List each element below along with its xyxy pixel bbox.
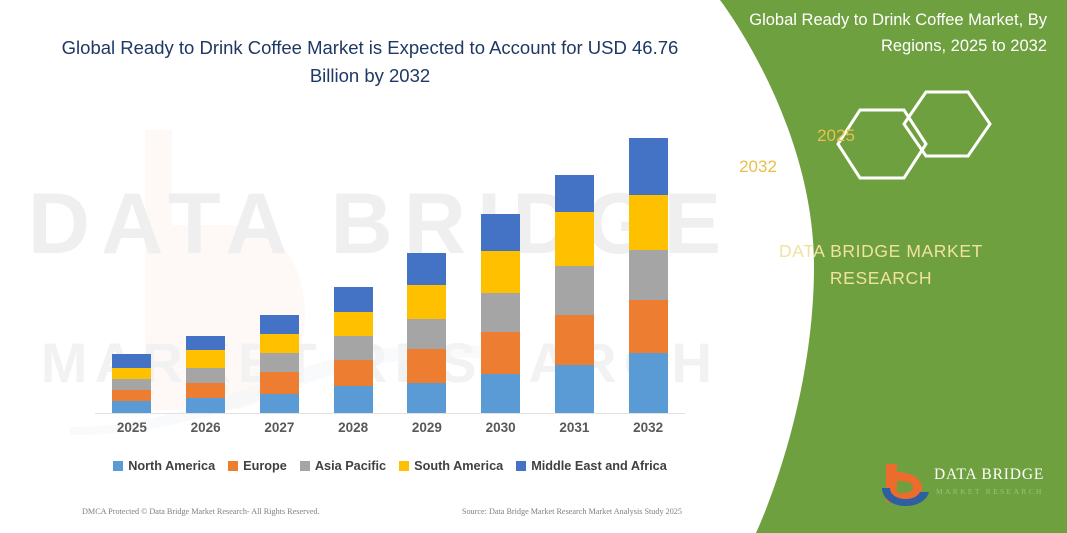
x-tick-2027: 2027	[243, 420, 317, 442]
stacked-bar-2029[interactable]	[407, 253, 446, 413]
x-axis-baseline	[95, 413, 685, 414]
x-tick-2029: 2029	[390, 420, 464, 442]
footer-source: Source: Data Bridge Market Research Mark…	[462, 507, 682, 516]
bar-segment-2029-south-america[interactable]	[407, 285, 446, 319]
legend-label-middle-east-and-africa: Middle East and Africa	[531, 459, 667, 473]
bars-container	[95, 120, 685, 413]
panel-title: Global Ready to Drink Coffee Market, By …	[732, 8, 1047, 59]
hexagon-2025-label: 2025	[806, 126, 866, 146]
x-tick-2030: 2030	[464, 420, 538, 442]
brand-name: DATA BRIDGE MARKET RESEARCH	[726, 238, 1036, 292]
stacked-bar-2030[interactable]	[481, 214, 520, 413]
bar-slot-2030	[464, 120, 538, 413]
legend-swatch-middle-east-and-africa	[516, 461, 526, 471]
footer: DMCA Protected © Data Bridge Market Rese…	[82, 507, 682, 516]
x-tick-2026: 2026	[169, 420, 243, 442]
green-panel: Global Ready to Drink Coffee Market, By …	[686, 0, 1067, 533]
legend-item-north-america[interactable]: North America	[113, 459, 215, 473]
legend-label-north-america: North America	[128, 459, 215, 473]
bar-segment-2027-middle-east-and-africa[interactable]	[260, 315, 299, 334]
stacked-bar-2026[interactable]	[186, 336, 225, 413]
x-tick-2032: 2032	[611, 420, 685, 442]
bar-slot-2025	[95, 120, 169, 413]
stacked-bar-2028[interactable]	[334, 287, 373, 413]
bar-slot-2028	[316, 120, 390, 413]
logo-subtitle: MARKET RESEARCH	[936, 487, 1044, 496]
bar-slot-2032	[611, 120, 685, 413]
legend-label-south-america: South America	[414, 459, 503, 473]
bar-segment-2032-europe[interactable]	[629, 300, 668, 353]
stacked-bar-2031[interactable]	[555, 175, 594, 413]
bar-segment-2031-europe[interactable]	[555, 315, 594, 365]
bar-segment-2030-south-america[interactable]	[481, 251, 520, 293]
bar-segment-2030-europe[interactable]	[481, 332, 520, 374]
data-bridge-logo: DATA BRIDGE MARKET RESEARCH	[880, 460, 1060, 508]
legend-item-middle-east-and-africa[interactable]: Middle East and Africa	[516, 459, 667, 473]
bar-segment-2027-europe[interactable]	[260, 372, 299, 394]
legend-label-asia-pacific: Asia Pacific	[315, 459, 386, 473]
bar-segment-2031-north-america[interactable]	[555, 365, 594, 413]
bar-segment-2025-asia-pacific[interactable]	[112, 379, 151, 390]
bar-segment-2027-asia-pacific[interactable]	[260, 353, 299, 372]
bar-segment-2029-north-america[interactable]	[407, 383, 446, 413]
bar-segment-2025-europe[interactable]	[112, 390, 151, 401]
page-title: Global Ready to Drink Coffee Market is E…	[60, 34, 680, 90]
bar-segment-2028-middle-east-and-africa[interactable]	[334, 287, 373, 312]
bar-segment-2026-north-america[interactable]	[186, 398, 225, 413]
bar-segment-2028-south-america[interactable]	[334, 312, 373, 336]
bar-segment-2026-middle-east-and-africa[interactable]	[186, 336, 225, 350]
bar-segment-2025-middle-east-and-africa[interactable]	[112, 354, 151, 368]
bar-slot-2027	[243, 120, 317, 413]
bar-segment-2032-south-america[interactable]	[629, 195, 668, 250]
x-tick-2031: 2031	[538, 420, 612, 442]
legend-swatch-north-america	[113, 461, 123, 471]
bar-segment-2028-asia-pacific[interactable]	[334, 336, 373, 360]
hexagon-2025-icon	[904, 92, 990, 156]
bar-segment-2031-asia-pacific[interactable]	[555, 266, 594, 315]
green-panel-content: Global Ready to Drink Coffee Market, By …	[686, 0, 1067, 533]
bar-segment-2025-north-america[interactable]	[112, 401, 151, 413]
bar-segment-2031-middle-east-and-africa[interactable]	[555, 175, 594, 212]
legend-label-europe: Europe	[243, 459, 287, 473]
bar-slot-2029	[390, 120, 464, 413]
legend-swatch-asia-pacific	[300, 461, 310, 471]
plot-area	[95, 120, 685, 414]
bar-segment-2026-south-america[interactable]	[186, 350, 225, 368]
hexagon-badges	[816, 88, 1056, 208]
bar-segment-2032-middle-east-and-africa[interactable]	[629, 138, 668, 195]
bar-segment-2028-north-america[interactable]	[334, 386, 373, 413]
bar-segment-2026-europe[interactable]	[186, 383, 225, 398]
footer-copyright: DMCA Protected © Data Bridge Market Rese…	[82, 507, 320, 516]
legend-swatch-south-america	[399, 461, 409, 471]
bar-segment-2027-north-america[interactable]	[260, 394, 299, 413]
bar-segment-2032-asia-pacific[interactable]	[629, 250, 668, 300]
logo-title: DATA BRIDGE	[934, 466, 1044, 484]
bar-segment-2025-south-america[interactable]	[112, 368, 151, 379]
stacked-bar-2025[interactable]	[112, 354, 151, 413]
bar-segment-2029-europe[interactable]	[407, 349, 446, 383]
stacked-bar-2032[interactable]	[629, 138, 668, 413]
x-axis-labels: 20252026202720282029203020312032	[95, 420, 685, 442]
bar-slot-2026	[169, 120, 243, 413]
bar-segment-2030-north-america[interactable]	[481, 374, 520, 413]
legend-item-europe[interactable]: Europe	[228, 459, 287, 473]
x-tick-2028: 2028	[316, 420, 390, 442]
bar-slot-2031	[538, 120, 612, 413]
legend-item-south-america[interactable]: South America	[399, 459, 503, 473]
bar-segment-2027-south-america[interactable]	[260, 334, 299, 353]
chart-panel: DATA BRIDGE MARKET RESEARCH Global Ready…	[0, 0, 760, 533]
bar-segment-2030-middle-east-and-africa[interactable]	[481, 214, 520, 251]
bar-segment-2031-south-america[interactable]	[555, 212, 594, 266]
hexagon-2032-label: 2032	[728, 157, 788, 177]
stacked-bar-2027[interactable]	[260, 315, 299, 413]
x-tick-2025: 2025	[95, 420, 169, 442]
bar-segment-2030-asia-pacific[interactable]	[481, 293, 520, 332]
data-bridge-logo-icon	[880, 462, 930, 508]
bar-segment-2026-asia-pacific[interactable]	[186, 368, 225, 383]
chart-legend: North AmericaEuropeAsia PacificSouth Ame…	[95, 455, 685, 477]
bar-segment-2032-north-america[interactable]	[629, 353, 668, 413]
bar-segment-2028-europe[interactable]	[334, 360, 373, 386]
bar-segment-2029-middle-east-and-africa[interactable]	[407, 253, 446, 285]
legend-swatch-europe	[228, 461, 238, 471]
bar-segment-2029-asia-pacific[interactable]	[407, 319, 446, 349]
legend-item-asia-pacific[interactable]: Asia Pacific	[300, 459, 386, 473]
